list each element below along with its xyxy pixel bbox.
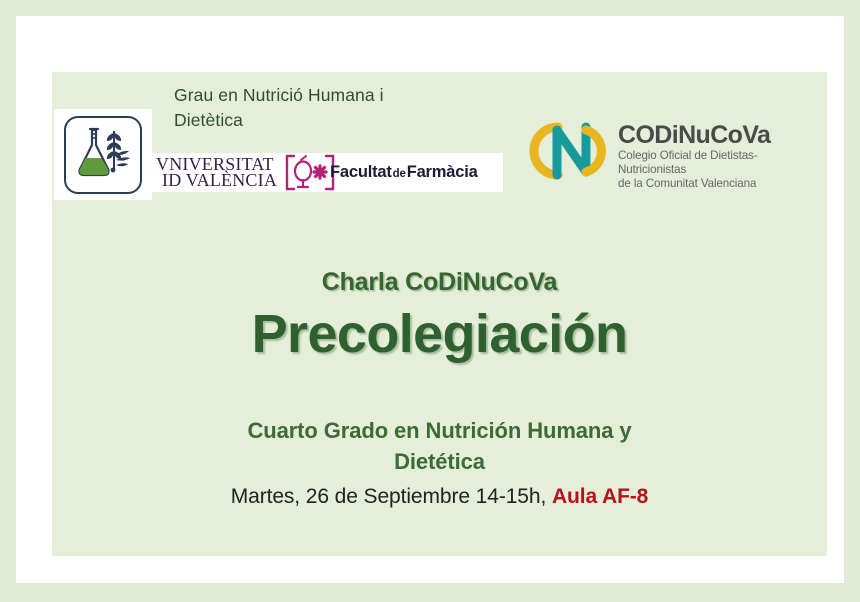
flask-logo-card (54, 109, 152, 200)
codinucova-cnd-monogram-icon (524, 118, 614, 184)
audience-course: Cuarto Grado en Nutrición Humana y Dieté… (52, 415, 827, 477)
slide-content-panel: Grau en Nutrició Humana i Dietètica (52, 72, 827, 556)
page-title: Precolegiación (52, 303, 827, 365)
session-datetime-line: Martes, 26 de Septiembre 14-15h, Aula AF… (52, 485, 827, 509)
audience-course-line-1: Cuarto Grado en Nutrición Humana y (52, 415, 827, 446)
slide-header: Grau en Nutrició Humana i Dietètica (52, 72, 827, 212)
slide-title-block: Charla CoDiNuCoVa Precolegiación (52, 268, 827, 365)
session-room: Aula AF-8 (552, 485, 648, 508)
degree-program-title: Grau en Nutrició Humana i Dietètica (174, 83, 464, 133)
session-info-block: Cuarto Grado en Nutrición Humana y Dieté… (52, 415, 827, 509)
codinucova-subtitle-line-2: de la Comunitat Valenciana (618, 177, 823, 191)
flask-wheat-svg (73, 125, 132, 184)
flask-and-wheat-icon (64, 116, 142, 194)
audience-course-line-2: Dietética (52, 446, 827, 477)
codinucova-subtitle: Colegio Oficial de Dietistas-Nutricionis… (618, 148, 823, 191)
codinucova-name: CODiNuCoVa (618, 122, 823, 148)
degree-program-line-2: Dietètica (174, 108, 464, 133)
facultat-de-farmacia-wordmark: FacultatdeFarmàcia (330, 163, 478, 182)
uv-wordmark: VNIVERSITAT ID VALÈNCIA (156, 156, 277, 188)
facultat-de-word: de (392, 168, 407, 180)
codinucova-logo-lockup: CODiNuCoVa Colegio Oficial de Dietistas-… (524, 116, 824, 194)
codinucova-subtitle-line-1: Colegio Oficial de Dietistas-Nutricionis… (618, 149, 823, 177)
farmacia-word: Farmàcia (407, 163, 478, 181)
talk-kicker: Charla CoDiNuCoVa (52, 268, 827, 297)
facultat-word: Facultat (330, 163, 392, 181)
degree-program-line-1: Grau en Nutrició Humana i (174, 83, 464, 108)
uv-wordmark-line-2: ID VALÈNCIA (156, 172, 277, 188)
slide-page: Grau en Nutrició Humana i Dietètica (16, 16, 844, 583)
university-logo-strip: VNIVERSITAT ID VALÈNCIA (150, 153, 503, 192)
presentation-slide: Grau en Nutrició Humana i Dietètica (0, 0, 860, 602)
codinucova-text-block: CODiNuCoVa Colegio Oficial de Dietistas-… (618, 122, 823, 191)
session-datetime: Martes, 26 de Septiembre 14-15h, (231, 485, 552, 508)
